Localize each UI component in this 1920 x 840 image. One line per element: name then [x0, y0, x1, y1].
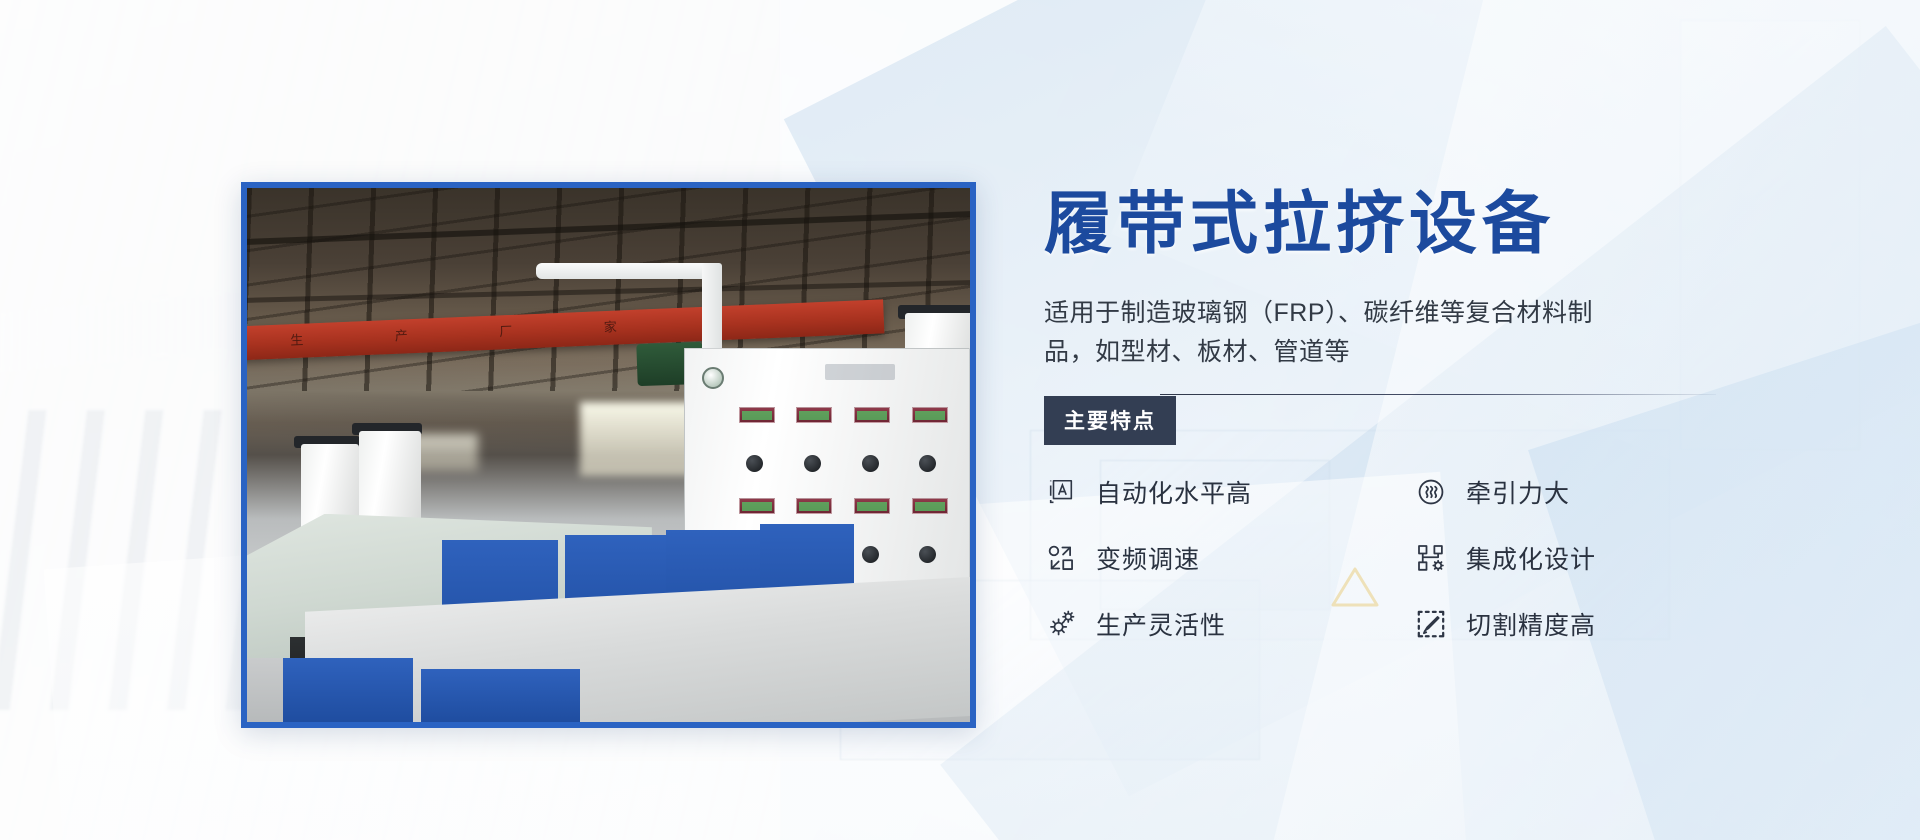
- product-banner: 生 产 厂 家: [0, 0, 1920, 840]
- integration-hierarchy-gear-icon-wrap: 集成化设计: [1414, 540, 1784, 576]
- divider-line: [1160, 394, 1716, 395]
- photo-knob: [862, 455, 879, 472]
- product-photo-card: 生 产 厂 家: [241, 182, 976, 728]
- photo-meter: [739, 407, 775, 423]
- photo-gantry-arm: [536, 263, 717, 279]
- photo-meter: [912, 407, 948, 423]
- feature-item: 牵引力大: [1414, 474, 1784, 510]
- feature-label: 生产灵活性: [1096, 606, 1226, 642]
- photo-knob: [746, 455, 763, 472]
- traction-waves-circle-icon: [1414, 475, 1448, 509]
- feature-item: 自动化水平高: [1044, 474, 1414, 510]
- photo-blue-cabinet: [421, 669, 580, 722]
- photo-cabinet-logo: [825, 364, 895, 380]
- photo-meter: [739, 498, 775, 514]
- photo-meter: [912, 498, 948, 514]
- feature-label: 集成化设计: [1466, 540, 1596, 576]
- product-photo: 生 产 厂 家: [247, 188, 970, 722]
- feature-item: 生产灵活性: [1044, 606, 1414, 642]
- gears-flexibility-icon: [1044, 607, 1078, 641]
- feature-item: 切割精度高: [1414, 606, 1784, 642]
- photo-blue-cabinet: [283, 658, 413, 722]
- banner-subtitle: 适用于制造玻璃钢（FRP）、碳纤维等复合材料制品，如型材、板材、管道等: [1044, 294, 1642, 372]
- precision-cut-pen-icon: [1414, 607, 1448, 641]
- automation-letter-a-icon: [1044, 475, 1078, 509]
- photo-meter: [854, 498, 890, 514]
- photo-meter: [796, 407, 832, 423]
- photo-meter: [854, 407, 890, 423]
- feature-label: 变频调速: [1096, 540, 1200, 576]
- page-title: 履带式拉挤设备: [1044, 190, 1744, 258]
- feature-label: 自动化水平高: [1096, 474, 1252, 510]
- photo-knob: [862, 546, 879, 563]
- photo-knob: [804, 455, 821, 472]
- feature-list: 自动化水平高 牵引力大: [1044, 474, 1744, 642]
- integration-hierarchy-gear-icon: [1414, 541, 1448, 575]
- banner-content: 履带式拉挤设备 适用于制造玻璃钢（FRP）、碳纤维等复合材料制品，如型材、板材、…: [1044, 190, 1744, 642]
- feature-item: 变频调速: [1044, 540, 1414, 576]
- frequency-transform-icon: [1044, 541, 1078, 575]
- feature-label: 切割精度高: [1466, 606, 1596, 642]
- feature-label: 牵引力大: [1466, 474, 1570, 510]
- photo-meter: [796, 498, 832, 514]
- badge-divider-row: 主要特点: [1044, 394, 1744, 440]
- status-badge: 主要特点: [1044, 396, 1176, 445]
